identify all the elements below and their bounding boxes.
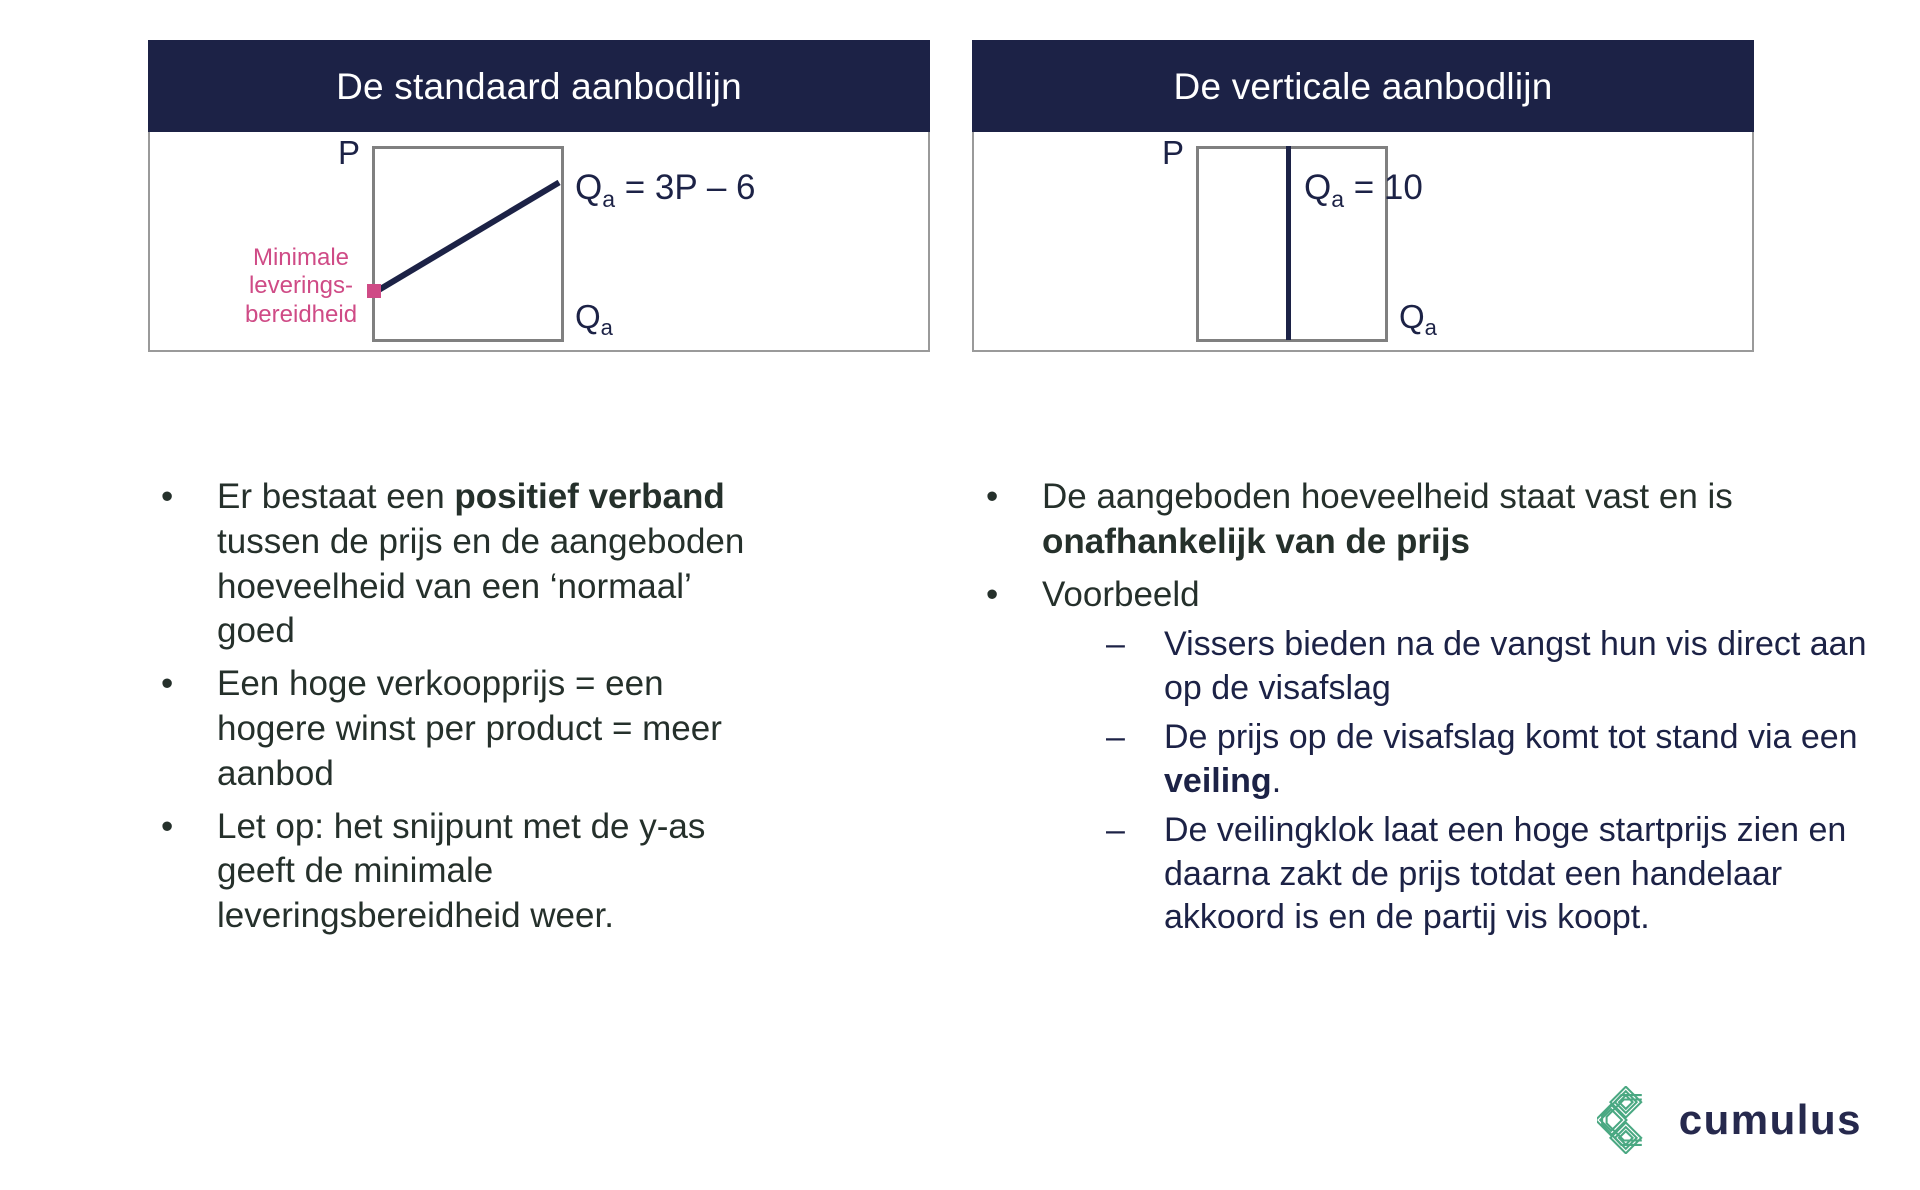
left-equation-rest: = 3P – 6	[615, 168, 755, 207]
slide: De standaard aanbodlijn P	[0, 0, 1920, 1190]
list-item: • Let op: het snijpunt met de y-as geeft…	[155, 805, 765, 939]
left-figure-title: De standaard aanbodlijn	[336, 68, 742, 105]
left-bullet-list-container: • Er bestaat een positief verband tussen…	[0, 475, 960, 947]
list-item: • De aangeboden hoeveelheid staat vast e…	[980, 475, 1878, 565]
bullet-text-part-bold: positief verband	[454, 477, 724, 516]
sub-bullet-text-part: De prijs op de visafslag komt tot stand …	[1164, 718, 1858, 756]
right-sub-bullet-list: – Vissers bieden na de vangst hun vis di…	[1042, 623, 1878, 940]
right-equation-rest: = 10	[1344, 168, 1423, 207]
bullet-marker: •	[161, 475, 173, 520]
cumulus-wordmark: cumulus	[1679, 1099, 1862, 1141]
left-chart-y-axis-label: P	[338, 136, 360, 169]
bullet-text: Let op: het snijpunt met de y-as geeft d…	[217, 807, 705, 936]
right-figure-title: De verticale aanbodlijn	[1174, 68, 1553, 105]
left-chart-x-axis-label: Qa	[575, 300, 613, 333]
sub-bullet-marker: –	[1106, 716, 1125, 760]
left-figure-body: P Minimale leve	[150, 132, 928, 350]
standard-supply-figure-card: De standaard aanbodlijn P	[148, 40, 930, 352]
left-bullet-list: • Er bestaat een positief verband tussen…	[155, 475, 765, 939]
bullet-text: Een hoge verkoopprijs = een hogere winst…	[217, 664, 722, 793]
cumulus-logo: cumulus	[1597, 1086, 1862, 1154]
vertical-supply-line	[1286, 146, 1291, 340]
left-figure-header: De standaard aanbodlijn	[148, 40, 930, 132]
supply-line	[375, 180, 560, 294]
two-column-layout: De standaard aanbodlijn P	[0, 0, 1920, 1060]
left-x-axis-base: Q	[575, 298, 601, 335]
right-chart-y-axis-label: P	[1162, 136, 1184, 169]
bullet-marker: •	[986, 573, 998, 618]
sub-bullet-text-part: .	[1272, 762, 1281, 800]
list-item: – De prijs op de visafslag komt tot stan…	[1104, 716, 1878, 803]
list-item: • Een hoge verkoopprijs = een hogere win…	[155, 662, 765, 796]
right-equation-sub: a	[1331, 186, 1344, 212]
vertical-supply-figure-card: De verticale aanbodlijn P	[972, 40, 1754, 352]
minimum-supply-point-marker	[367, 284, 381, 298]
bullet-text-part: Er bestaat een	[217, 477, 454, 516]
right-bullet-list-container: • De aangeboden hoeveelheid staat vast e…	[960, 475, 1920, 948]
sub-bullet-marker: –	[1106, 623, 1125, 667]
right-x-axis-base: Q	[1399, 298, 1425, 335]
left-chart-top-border	[372, 146, 564, 149]
bullet-text: Er bestaat een positief verband tussen d…	[217, 477, 744, 650]
right-chart-equation-label: Qa = 10	[1304, 170, 1423, 205]
right-chart-x-axis-label: Qa	[1399, 300, 1437, 333]
sub-bullet-marker: –	[1106, 809, 1125, 853]
left-equation-sub: a	[602, 186, 615, 212]
left-equation-base: Q	[575, 168, 602, 207]
right-column: De verticale aanbodlijn P	[960, 0, 1920, 1060]
left-column: De standaard aanbodlijn P	[0, 0, 960, 1060]
list-item: – De veilingklok laat een hoge startprij…	[1104, 809, 1878, 940]
right-figure-header: De verticale aanbodlijn	[972, 40, 1754, 132]
left-chart-y-axis	[372, 146, 375, 342]
left-chart-right-border	[561, 146, 564, 342]
cumulus-logo-icon	[1597, 1086, 1661, 1154]
sub-bullet-text: De veilingklok laat een hoge startprijs …	[1164, 811, 1846, 936]
right-x-axis-sub: a	[1425, 315, 1437, 340]
list-item: – Vissers bieden na de vangst hun vis di…	[1104, 623, 1878, 710]
right-chart-x-axis	[1196, 339, 1388, 342]
left-chart-x-axis	[372, 339, 564, 342]
list-item: • Er bestaat een positief verband tussen…	[155, 475, 765, 654]
bullet-text: Voorbeeld	[1042, 575, 1200, 614]
bullet-marker: •	[161, 805, 173, 850]
bullet-text-part: De aangeboden hoeveelheid staat vast en …	[1042, 477, 1733, 516]
standard-supply-chart: P Minimale leve	[150, 132, 928, 350]
left-x-axis-sub: a	[601, 315, 613, 340]
sub-bullet-text-part-bold: veiling	[1164, 762, 1272, 800]
bullet-marker: •	[161, 662, 173, 707]
bullet-text: De aangeboden hoeveelheid staat vast en …	[1042, 477, 1733, 561]
right-figure-body: P Qa = 10	[974, 132, 1752, 350]
left-chart-equation-label: Qa = 3P – 6	[575, 170, 755, 205]
list-item: • Voorbeeld – Vissers bieden na de vangs…	[980, 573, 1878, 940]
right-chart-y-axis	[1196, 146, 1199, 342]
right-bullet-list: • De aangeboden hoeveelheid staat vast e…	[980, 475, 1878, 940]
right-chart-top-border	[1196, 146, 1388, 149]
sub-bullet-text: De prijs op de visafslag komt tot stand …	[1164, 718, 1858, 800]
vertical-supply-chart: P Qa = 10	[974, 132, 1752, 350]
bullet-text-part-bold: onafhankelijk van de prijs	[1042, 522, 1470, 561]
bullet-text-part: tussen de prijs en de aangeboden hoeveel…	[217, 522, 744, 651]
right-equation-base: Q	[1304, 168, 1331, 207]
sub-bullet-text: Vissers bieden na de vangst hun vis dire…	[1164, 625, 1866, 707]
bullet-marker: •	[986, 475, 998, 520]
minimum-supply-annotation: Minimale leverings- bereidheid	[234, 244, 368, 329]
